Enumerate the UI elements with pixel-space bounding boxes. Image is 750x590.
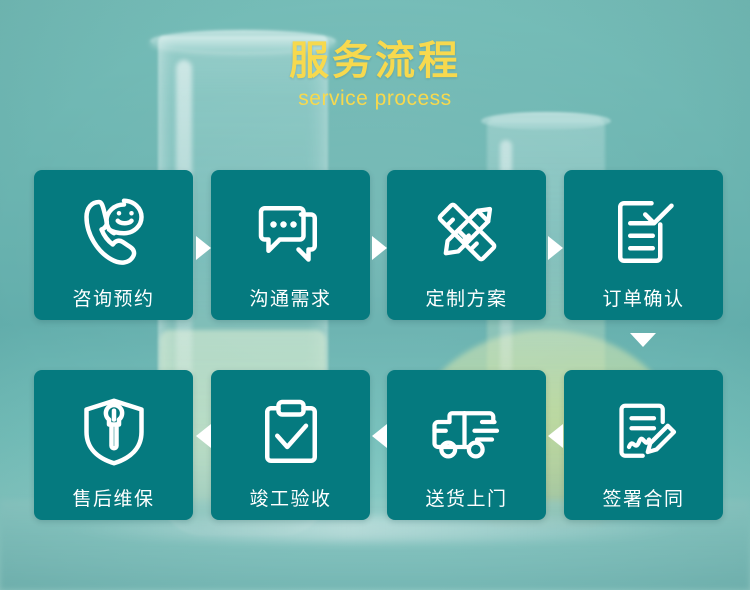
arrow-step2-to-step3-icon: [372, 236, 387, 260]
step-card-label: 售后维保: [72, 484, 154, 511]
step-card-label: 订单确认: [602, 284, 684, 311]
step-card-after-sales[interactable]: 售后维保: [34, 370, 193, 520]
delivery-truck-icon: [427, 392, 507, 472]
step-card-acceptance[interactable]: 竣工验收: [211, 370, 370, 520]
pencil-ruler-icon: [427, 192, 507, 272]
step-card-sign-contract[interactable]: 签署合同: [564, 370, 723, 520]
page-title: 服务流程: [0, 40, 750, 82]
step-card-communication[interactable]: 沟通需求: [211, 170, 370, 320]
arrow-step3-to-step4-icon: [548, 236, 563, 260]
chat-bubbles-icon: [251, 192, 331, 272]
service-process-banner: 服务流程 service process 咨询预约: [0, 0, 750, 590]
step-card-label: 定制方案: [425, 284, 507, 311]
contract-sign-icon: [604, 392, 684, 472]
shield-wrench-icon: [74, 392, 154, 472]
page-subtitle: service process: [0, 87, 750, 111]
phone-smiley-icon: [74, 192, 154, 272]
step-card-label: 送货上门: [425, 484, 507, 511]
step-card-consultation[interactable]: 咨询预约: [34, 170, 193, 320]
step-card-delivery[interactable]: 送货上门: [387, 370, 546, 520]
step-card-order-confirm[interactable]: 订单确认: [564, 170, 723, 320]
step-card-label: 竣工验收: [249, 484, 331, 511]
step-card-custom-plan[interactable]: 定制方案: [387, 170, 546, 320]
banner-heading: 服务流程 service process: [0, 40, 750, 111]
arrow-step5-to-step6-icon: [548, 424, 563, 448]
step-card-label: 沟通需求: [249, 284, 331, 311]
document-check-icon: [604, 192, 684, 272]
arrow-step1-to-step2-icon: [196, 236, 211, 260]
arrow-step4-to-step5-icon: [630, 333, 656, 347]
step-card-label: 咨询预约: [72, 284, 154, 311]
clipboard-check-icon: [251, 392, 331, 472]
arrow-step7-to-step8-icon: [196, 424, 211, 448]
arrow-step6-to-step7-icon: [372, 424, 387, 448]
step-card-label: 签署合同: [602, 484, 684, 511]
